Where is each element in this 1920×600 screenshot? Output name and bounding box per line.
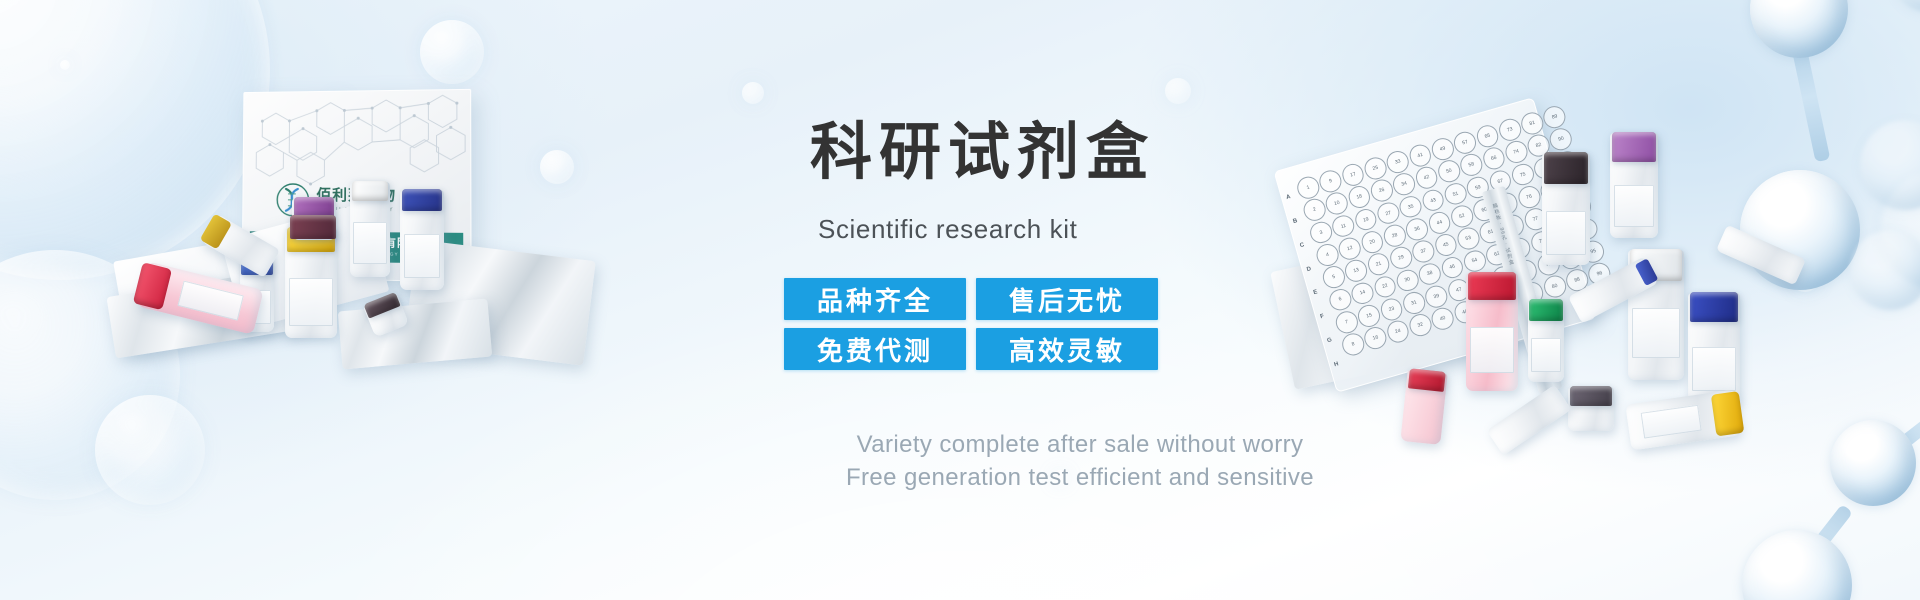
vial-label: [1614, 185, 1654, 227]
microplate-well: 73: [1496, 116, 1523, 143]
vial-label: [289, 278, 333, 326]
vial-label: [1692, 347, 1736, 391]
vial-cap: [1544, 152, 1588, 184]
vial-cap: [1529, 299, 1562, 321]
vial-label: [353, 222, 387, 264]
vial-cap: [1570, 386, 1612, 406]
microplate-well: 38: [1416, 260, 1443, 287]
ampoule-vial: [1716, 225, 1806, 286]
microplate-well: 51: [1442, 180, 1469, 207]
vial-cap: [294, 197, 334, 217]
banner-copy: 科研试剂盒 Scientific research kit 品种齐全 售后无忧 …: [760, 0, 1400, 600]
vial-label: [1546, 211, 1586, 255]
microplate-well: 49: [1429, 136, 1456, 163]
microplate-well: 44: [1426, 209, 1453, 236]
microplate-well: 76: [1516, 184, 1543, 211]
microplate-well: 31: [1400, 289, 1427, 316]
feature-badge-after-sale[interactable]: 售后无忧: [976, 278, 1158, 320]
molecule-atom-icon: [1880, 170, 1920, 290]
vial-cap: [402, 189, 442, 211]
red-cap-bottle: [1466, 273, 1518, 391]
molecule-bond-icon: [1882, 384, 1920, 462]
vial-cap: [1612, 132, 1656, 162]
molecule-bond-icon: [1780, 504, 1853, 591]
molecule-atom-icon: [1893, 0, 1920, 12]
white-cap-bottle: [350, 182, 390, 277]
microplate-well: 32: [1407, 312, 1434, 339]
hero-banner: 佰利莱生物 BAILILAI BIOLOGY 上海佰利莱生物科技有限公司 SHA…: [0, 0, 1920, 600]
dark-cap-vial: [1542, 153, 1590, 265]
page-title: 科研试剂盒: [810, 122, 1155, 184]
purple-cap-vial: [1610, 133, 1658, 238]
microplate-well: 52: [1448, 203, 1475, 230]
microplate-well: 58: [1458, 152, 1485, 179]
water-bubble-icon: [420, 20, 484, 84]
microplate-well: 42: [1413, 164, 1440, 191]
vial-label: [1470, 327, 1514, 373]
vial-cap: [1407, 368, 1446, 392]
feature-badge-high-sensitivity[interactable]: 高效灵敏: [976, 328, 1158, 370]
vial-cap: [1711, 391, 1745, 436]
microplate-well: 54: [1461, 248, 1488, 275]
vial-cap: [352, 181, 389, 201]
yellow-cap-bottle: [1625, 390, 1740, 451]
blue-cap-bottle: [1688, 293, 1740, 405]
microplate-well: 80: [1541, 273, 1568, 300]
microplate-well: 74: [1503, 139, 1530, 166]
microplate-well: 39: [1423, 283, 1450, 310]
maroon-cap-vial: [290, 216, 336, 246]
grey-cap-vial: [1568, 387, 1614, 431]
microplate-well: 53: [1455, 225, 1482, 252]
feature-badge-free-test[interactable]: 免费代测: [784, 328, 966, 370]
microplate-well: 35: [1397, 193, 1424, 220]
vial-cap: [1468, 272, 1516, 300]
vial-label: [1632, 308, 1679, 358]
water-bubble-icon: [95, 395, 205, 505]
vial-cap: [1690, 292, 1738, 322]
microplate-well: 43: [1420, 187, 1447, 214]
microplate-well: 45: [1432, 232, 1459, 259]
microplate-well: 65: [1474, 123, 1501, 150]
product-photo-left: 佰利莱生物 BAILILAI BIOLOGY 上海佰利莱生物科技有限公司 SHA…: [110, 90, 580, 390]
foil-pouch: [338, 299, 492, 370]
water-bubble-icon: [60, 60, 70, 70]
microplate-well: 50: [1436, 158, 1463, 185]
tagline-line-1: Variety complete after sale without worr…: [710, 428, 1450, 461]
feature-badge-variety-complete[interactable]: 品种齐全: [784, 278, 966, 320]
ampoule-vial: [1487, 385, 1572, 456]
microplate-well: 46: [1439, 254, 1466, 281]
microplate-well: 81: [1519, 110, 1546, 137]
banner-tagline: Variety complete after sale without worr…: [710, 428, 1450, 494]
tagline-line-2: Free generation test efficient and sensi…: [710, 461, 1450, 494]
microplate-well: 40: [1429, 305, 1456, 332]
microplate-well: 89: [1541, 103, 1568, 130]
microplate-well: 57: [1452, 129, 1479, 156]
page-subtitle: Scientific research kit: [818, 216, 1077, 242]
microplate-well: 66: [1480, 145, 1507, 172]
vial-label: [404, 234, 441, 278]
blue-cap-vial: [400, 190, 444, 290]
feature-badge-list: 品种齐全 售后无忧 免费代测 高效灵敏: [784, 278, 1158, 370]
molecule-atom-icon: [1750, 0, 1848, 58]
microplate-well: 41: [1407, 142, 1434, 169]
microplate-well: 36: [1404, 216, 1431, 243]
vial-cap: [290, 215, 336, 239]
molecule-atom-icon: [1742, 530, 1852, 600]
vial-label: [1531, 338, 1561, 372]
microplate-well: 75: [1509, 161, 1536, 188]
microplate-well: 90: [1548, 126, 1575, 153]
green-cap-vial: [1528, 300, 1564, 382]
microplate-well: 37: [1410, 238, 1437, 265]
